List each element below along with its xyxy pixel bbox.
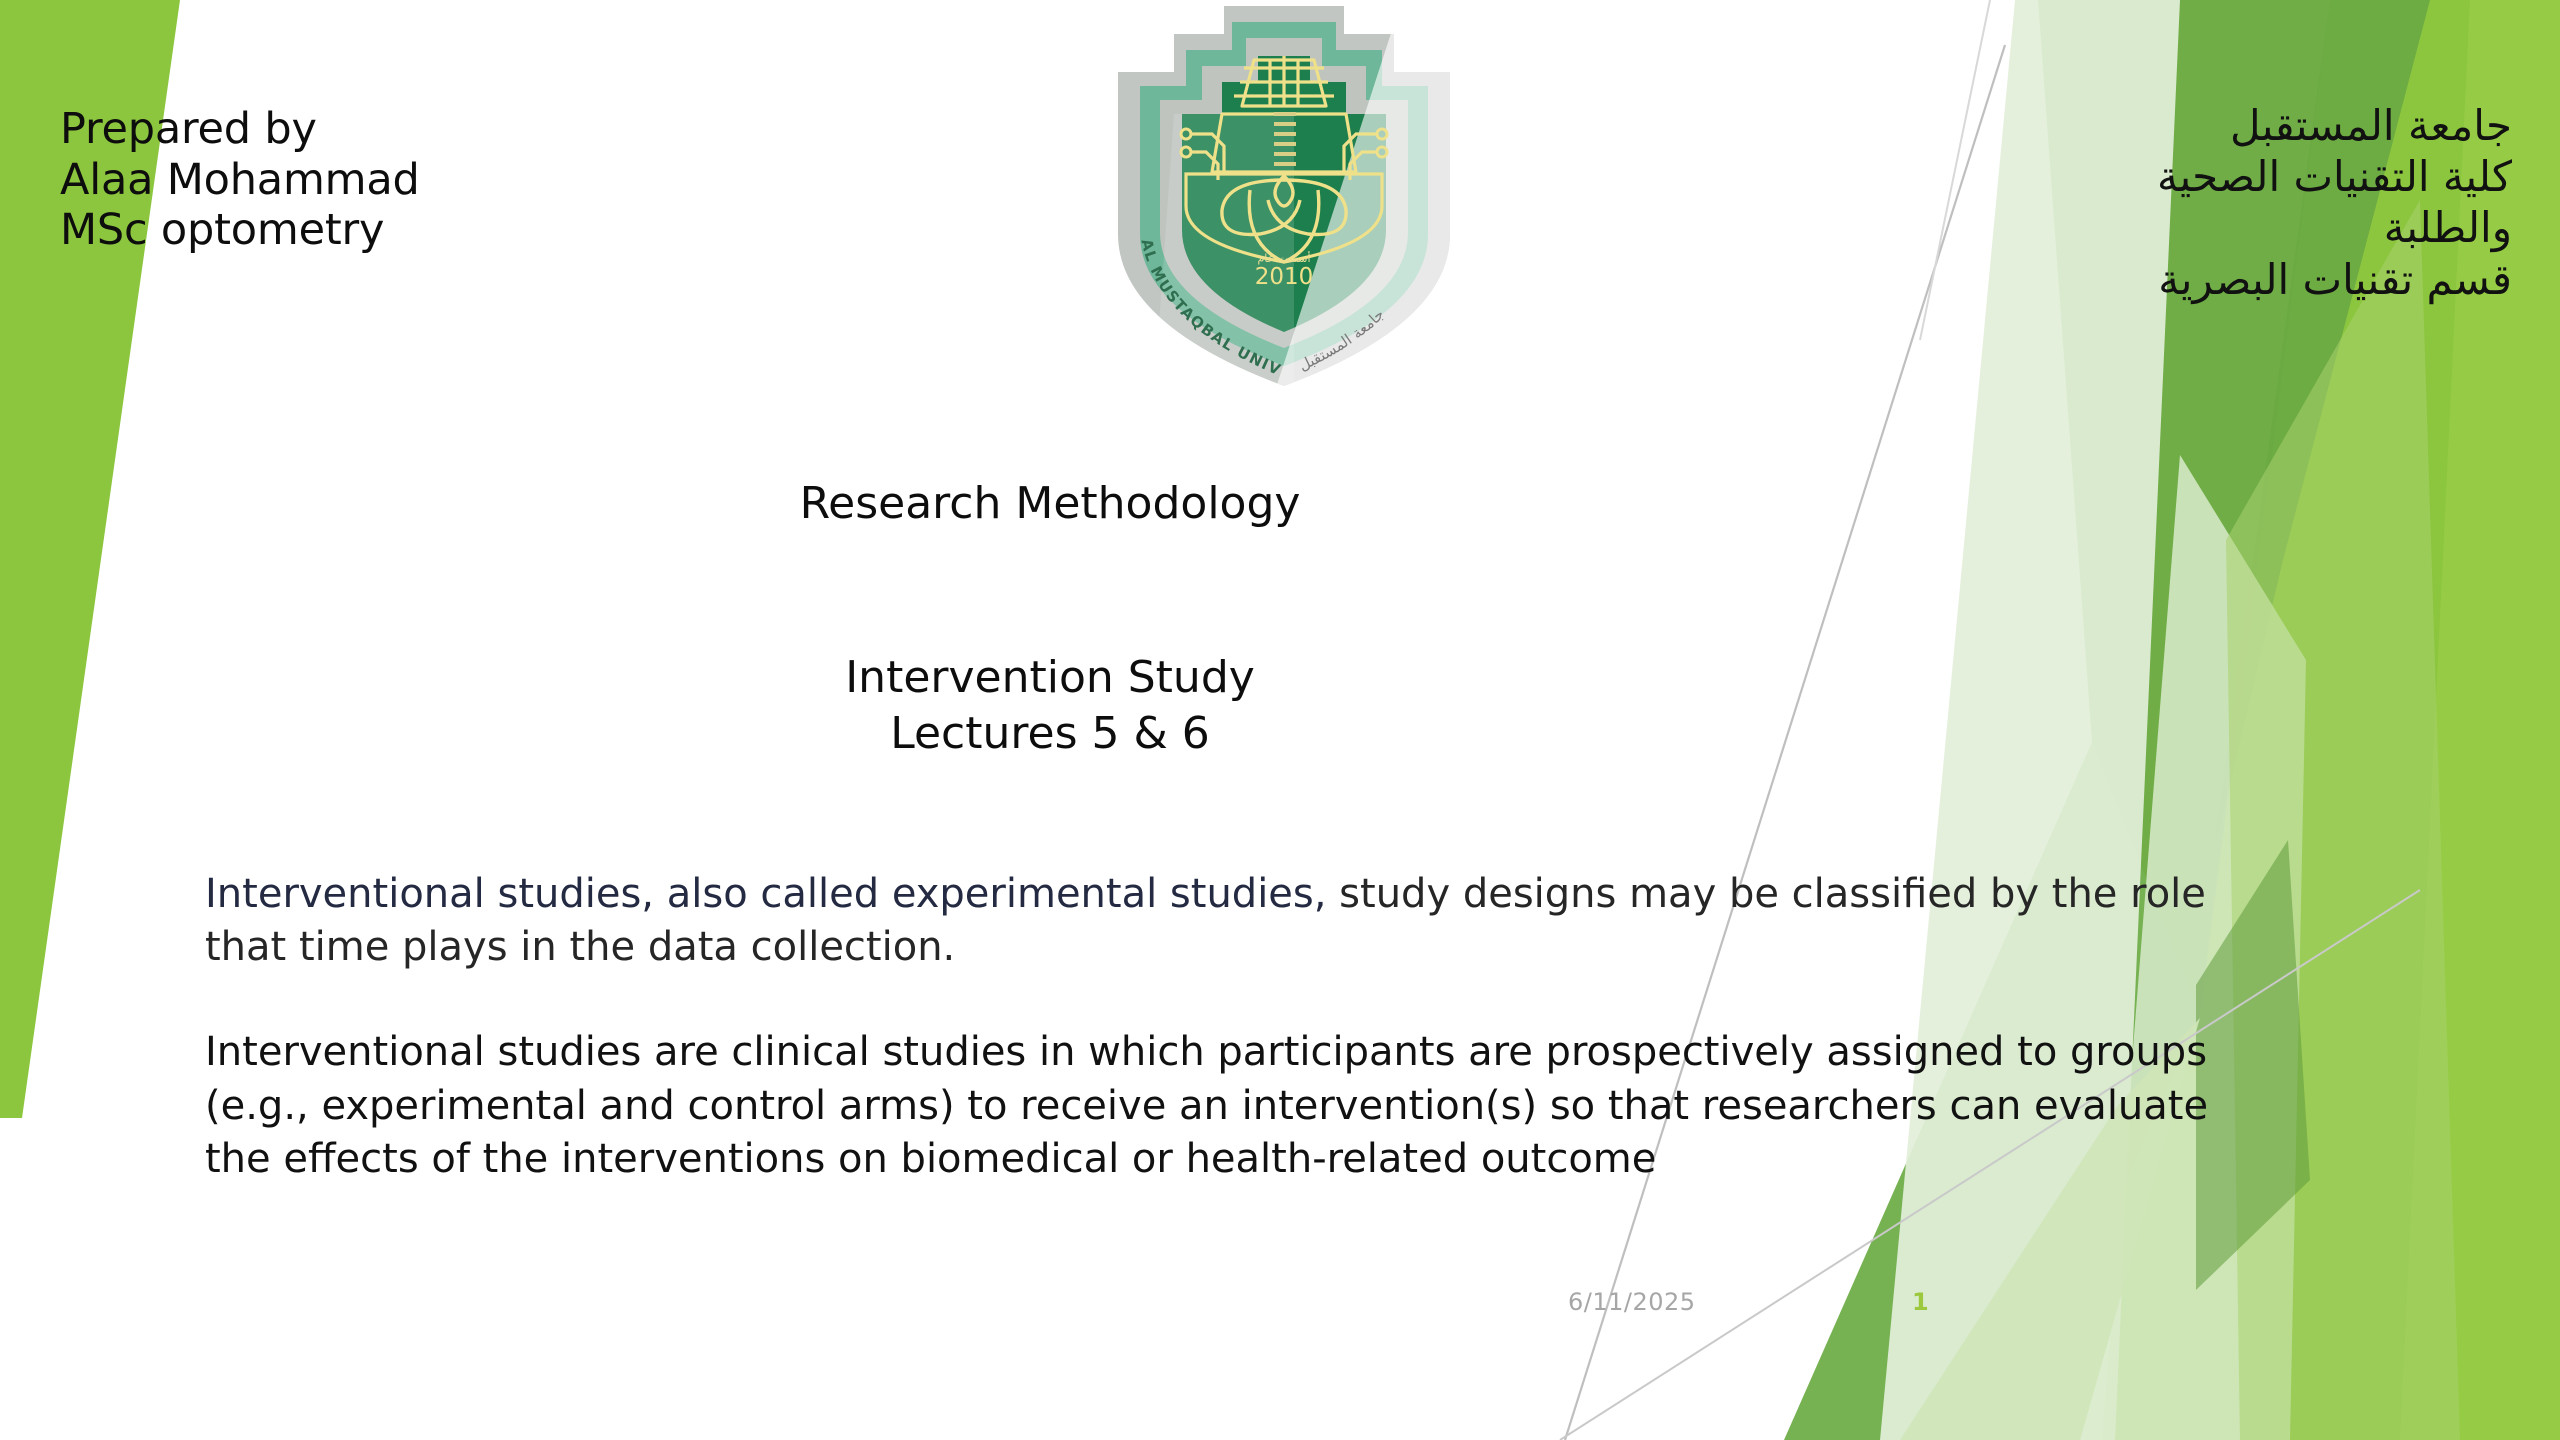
light-green-diagonal-band <box>2226 200 2460 1440</box>
paragraph-one-lead: Interventional studies, also called expe… <box>205 871 1326 917</box>
author-degree: MSc optometry <box>60 205 760 256</box>
lecture-numbers: Lectures 5 & 6 <box>0 706 2100 762</box>
author-prepared-by: Prepared by <box>60 104 760 155</box>
university-logo: أسست عام 2010 AL MUSTAQBAL UNIVERSITY جا… <box>1094 0 1474 394</box>
crest-motto: أسست عام <box>1257 251 1310 265</box>
footer-date: 6/11/2025 <box>1568 1288 1696 1316</box>
course-title-group: Research Methodology <box>0 478 2100 531</box>
paragraph-one: Interventional studies, also called expe… <box>205 868 2275 974</box>
crest-year: 2010 <box>1255 264 1314 290</box>
topic-title: Intervention Study <box>0 650 2100 706</box>
subtitle-group: Intervention Study Lectures 5 & 6 <box>0 650 2100 762</box>
institution-students: والطلبة <box>1752 202 2512 253</box>
institution-block: جامعة المستقبل كلية التقنيات الصحية والط… <box>1752 100 2512 305</box>
author-block: Prepared by Alaa Mohammad MSc optometry <box>60 104 760 256</box>
presentation-slide: Prepared by Alaa Mohammad MSc optometry … <box>0 0 2560 1440</box>
body-text-block: Interventional studies, also called expe… <box>205 868 2275 1186</box>
institution-college: كلية التقنيات الصحية <box>1752 151 2512 202</box>
paragraph-two: Interventional studies are clinical stud… <box>205 1026 2275 1186</box>
institution-department: قسم تقنيات البصرية <box>1752 254 2512 305</box>
author-name: Alaa Mohammad <box>60 155 760 206</box>
crest-icon: أسست عام 2010 AL MUSTAQBAL UNIVERSITY جا… <box>1094 0 1474 394</box>
footer-page-number: 1 <box>1912 1288 1929 1316</box>
institution-university: جامعة المستقبل <box>1752 100 2512 151</box>
course-title: Research Methodology <box>0 478 2100 531</box>
